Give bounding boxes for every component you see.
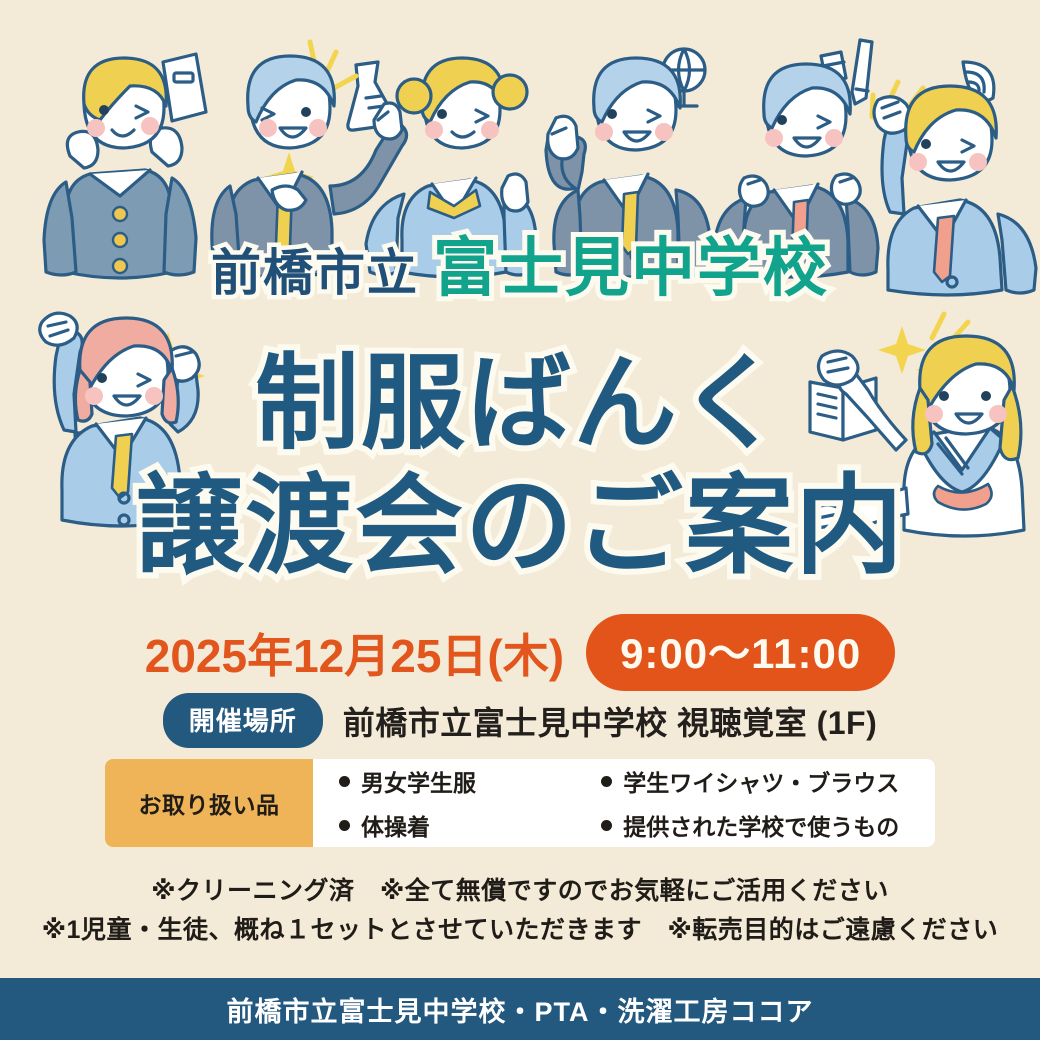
list-item: 体操着	[339, 808, 601, 842]
footer-text: 前橋市立富士見中学校・PTA・洗濯工房ココア	[227, 990, 814, 1029]
sparkle-icon	[147, 42, 968, 388]
page-title-line2: 譲渡会のご案内	[0, 472, 1040, 580]
handled-items-box: お取り扱い品 男女学生服 学生ワイシャツ・ブラウス 体操着 提供された学校で使う…	[105, 759, 935, 847]
schedule-row: 2025年12月25日(木) 9:00〜11:00	[0, 614, 1040, 691]
event-time-badge: 9:00〜11:00	[586, 614, 895, 691]
protractor-icon	[963, 62, 994, 101]
pencil-icon	[852, 40, 872, 104]
venue-badge-label: 開催場所	[163, 693, 323, 748]
item-label: 男女学生服	[361, 764, 476, 798]
poster-canvas: .ln { fill:none; stroke:#2b5d86; stroke-…	[0, 0, 1040, 1040]
item-label: 体操着	[361, 808, 430, 842]
venue-row: 開催場所 前橋市立富士見中学校 視聴覚室 (1F)	[0, 693, 1040, 748]
school-name-label: 富士見中学校	[433, 232, 829, 304]
venue-value: 前橋市立富士見中学校 視聴覚室 (1F)	[343, 698, 877, 744]
school-city-label: 前橋市立	[211, 245, 419, 301]
item-label: 提供された学校で使うもの	[623, 808, 899, 842]
notes-block: ※クリーニング済 ※全て無償ですのでお気軽にご活用ください ※1児童・生徒、概ね…	[0, 872, 1040, 950]
item-label: 学生ワイシャツ・ブラウス	[623, 764, 899, 798]
note-line: ※1児童・生徒、概ね１セットとさせていただきます ※転売目的はご遠慮ください	[0, 911, 1040, 950]
list-item: 学生ワイシャツ・ブラウス	[601, 764, 929, 798]
list-item: 男女学生服	[339, 764, 601, 798]
event-date: 2025年12月25日(木)	[145, 620, 564, 686]
globe-icon	[663, 49, 705, 106]
list-item: 提供された学校で使うもの	[601, 808, 929, 842]
bullet-icon	[601, 820, 612, 831]
note-line: ※クリーニング済 ※全て無償ですのでお気軽にご活用ください	[0, 872, 1040, 911]
bullet-icon	[601, 776, 612, 787]
bullet-icon	[339, 820, 350, 831]
items-list: 男女学生服 学生ワイシャツ・ブラウス 体操着 提供された学校で使うもの	[313, 759, 935, 847]
school-heading: 前橋市立富士見中学校	[0, 236, 1040, 300]
items-label: お取り扱い品	[105, 759, 313, 847]
page-title-line1: 制服ばんく	[0, 352, 1040, 456]
footer-bar: 前橋市立富士見中学校・PTA・洗濯工房ココア	[0, 978, 1040, 1040]
eraser-icon	[821, 52, 846, 82]
bullet-icon	[339, 776, 350, 787]
notebook-icon	[163, 54, 206, 121]
flask-icon	[348, 62, 396, 130]
